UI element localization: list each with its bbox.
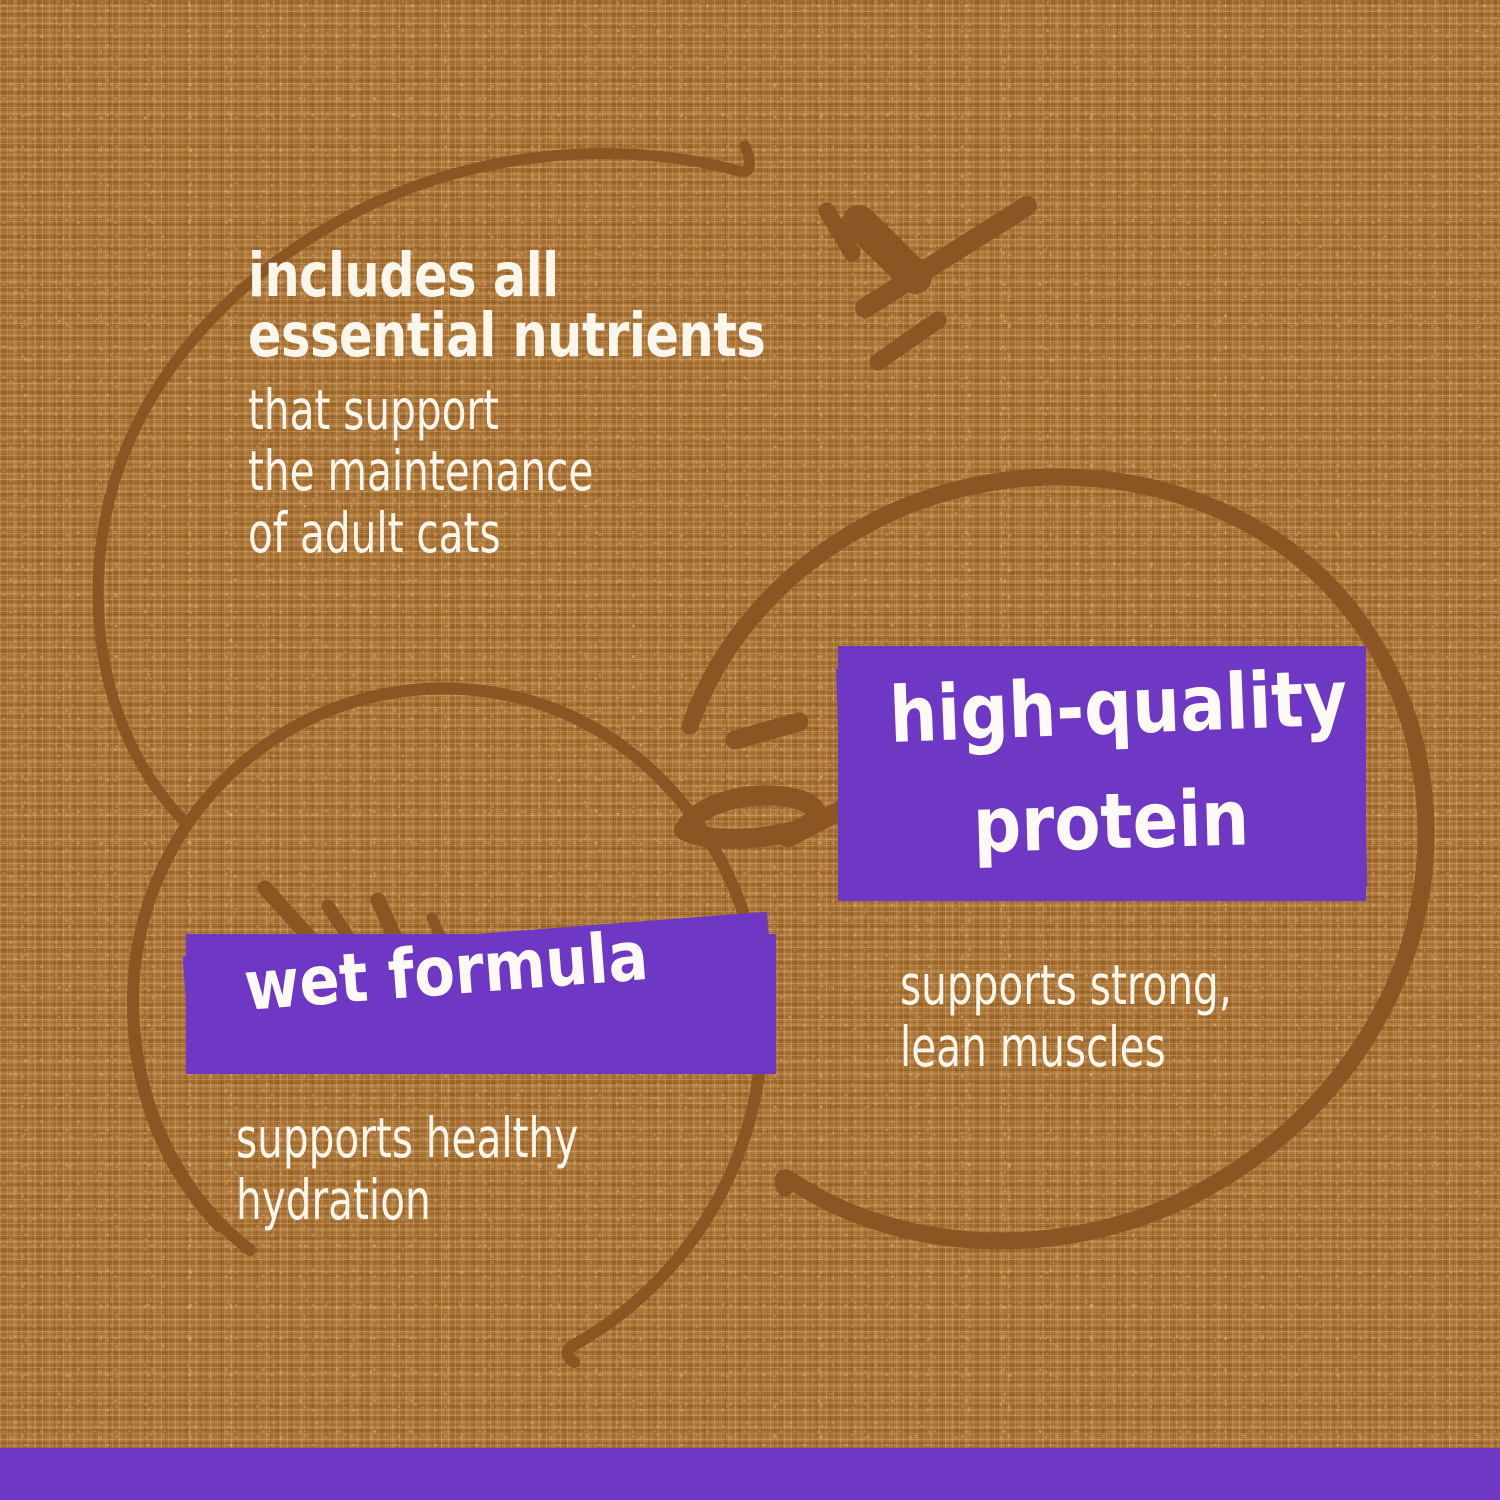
nutrients-body-line3: of adult cats <box>248 503 719 565</box>
protein-body-line1: supports strong, <box>900 955 1232 1017</box>
protein-body-block: supports strong, lean muscles <box>900 955 1305 1078</box>
high-quality-protein-badge[interactable]: high-quality protein <box>838 646 1366 901</box>
nutrients-headline-line1: includes all <box>248 246 765 306</box>
wet-body-block: supports healthy hydration <box>236 1108 653 1231</box>
promo-graphic: includes all essential nutrients that su… <box>0 0 1500 1500</box>
protein-body-line2: lean muscles <box>900 1017 1232 1079</box>
bottom-purple-bar <box>0 1448 1500 1500</box>
protein-badge-label-line2: protein <box>972 780 1250 865</box>
wet-body-line1: supports healthy <box>236 1108 578 1170</box>
protein-badge-label-line1: high-quality <box>888 660 1349 755</box>
wet-formula-badge[interactable]: wet formula <box>186 934 776 1074</box>
wet-body-line2: hydration <box>236 1170 578 1232</box>
nutrients-body-line2: the maintenance <box>248 441 719 503</box>
nutrients-headline-line2: essential nutrients <box>248 306 765 366</box>
nutrients-body-line1: that support <box>248 380 719 442</box>
nutrients-text-block: includes all essential nutrients that su… <box>248 246 823 564</box>
